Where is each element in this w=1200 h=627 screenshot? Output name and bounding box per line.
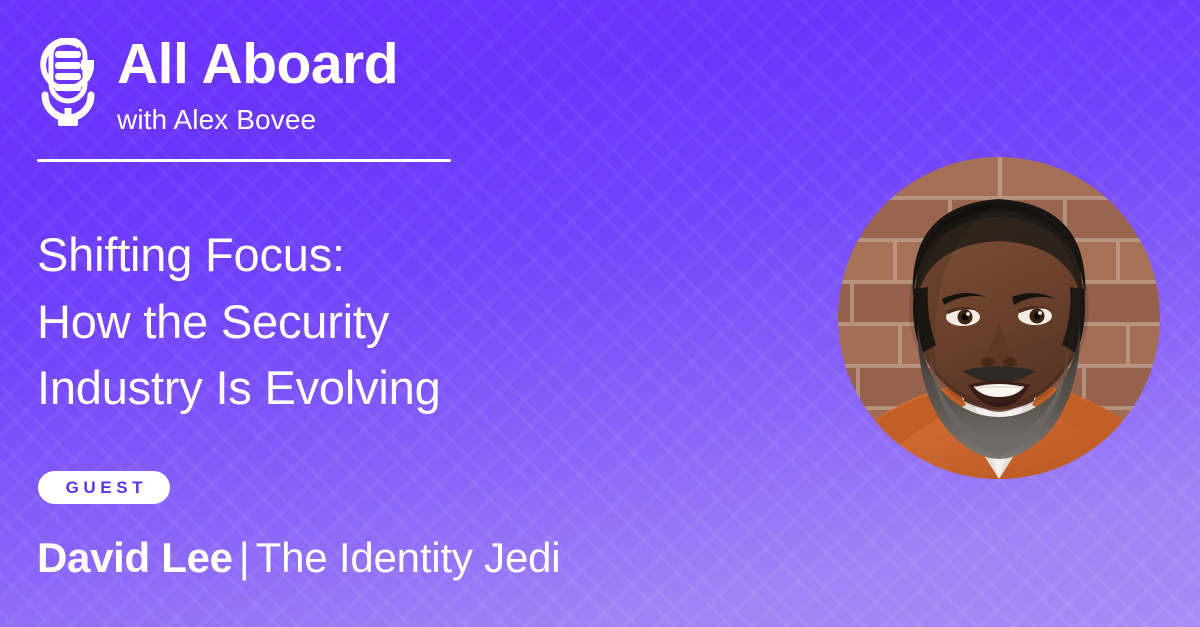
guest-role: The Identity Jedi [256,534,561,581]
episode-title-line-2: How the Security [37,289,797,356]
episode-title: Shifting Focus: How the Security Industr… [37,222,797,422]
episode-title-line-1: Shifting Focus: [37,222,797,289]
guest-name: David Lee [37,534,233,581]
guest-separator: | [233,534,256,581]
content-column: All Aboard with Alex Bovee Shifting Focu… [37,0,837,627]
headshot-illustration [838,157,1160,479]
podcast-episode-card: All Aboard with Alex Bovee Shifting Focu… [0,0,1200,627]
guest-badge: GUEST [38,471,170,504]
guest-headshot [838,157,1160,479]
brand-lockup: All Aboard with Alex Bovee [37,36,398,138]
brand-text: All Aboard with Alex Bovee [117,36,398,134]
header-divider [37,159,451,162]
episode-title-line-3: Industry Is Evolving [37,355,797,422]
brand-subtitle: with Alex Bovee [117,106,398,134]
brand-title: All Aboard [117,36,398,93]
guest-line: David Lee|The Identity Jedi [37,535,560,581]
podcast-microphone-icon [37,38,99,138]
